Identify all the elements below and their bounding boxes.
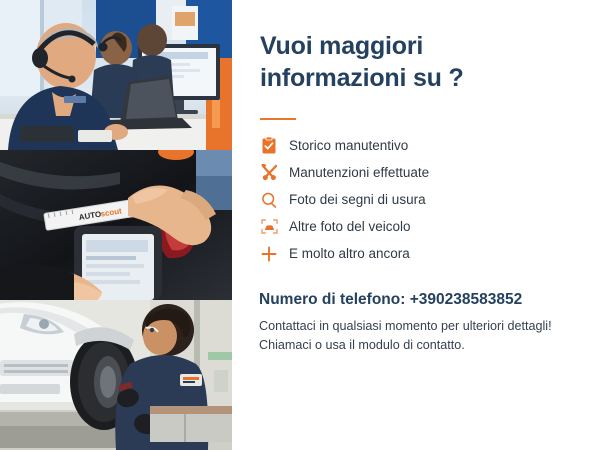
feature-label: Manutenzioni effettuate — [289, 165, 429, 180]
feature-label: Foto dei segni di usura — [289, 192, 426, 207]
feature-item-vehicle-photos: Altre foto del veicolo — [258, 213, 548, 240]
feature-label: Altre foto del veicolo — [289, 219, 411, 234]
feature-item-maintenance-done: Manutenzioni effettuate — [258, 159, 548, 186]
feature-label: E molto altro ancora — [289, 246, 410, 261]
feature-item-much-more: E molto altro ancora — [258, 240, 548, 267]
promotional-banner: AUTO scout — [0, 0, 600, 450]
photo-column: AUTO scout — [0, 0, 232, 450]
contact-note-line-1: Contattaci in qualsiasi momento per ulte… — [259, 317, 579, 336]
page-title: Vuoi maggiori informazioni su ? — [260, 30, 475, 94]
feature-item-wear-photos: Foto dei segni di usura — [258, 186, 548, 213]
phone-line: Numero di telefono: +390238583852 — [259, 291, 522, 309]
contact-note-line-2: Chiamaci o usa il modulo di contatto. — [259, 336, 579, 355]
phone-number[interactable]: +390238583852 — [410, 291, 523, 308]
plus-icon — [258, 245, 280, 263]
clipboard-check-icon — [258, 137, 280, 155]
call-center-agent-photo — [0, 0, 232, 150]
page-title-line-2: informazioni su ? — [260, 62, 475, 94]
title-divider — [260, 118, 296, 120]
car-scan-frame-icon — [258, 218, 280, 236]
tools-cross-icon — [258, 164, 280, 182]
feature-list: Storico manutentivo Manutenzioni effettu… — [258, 132, 548, 267]
vehicle-inspection-photo: AUTO scout — [0, 150, 232, 300]
mechanic-wheel-photo — [0, 300, 232, 450]
page-title-line-1: Vuoi maggiori — [260, 30, 475, 62]
feature-item-maintenance-history: Storico manutentivo — [258, 132, 548, 159]
phone-label: Numero di telefono: — [259, 291, 405, 308]
magnifier-icon — [258, 191, 280, 209]
contact-note: Contattaci in qualsiasi momento per ulte… — [259, 317, 579, 355]
content-panel: Vuoi maggiori informazioni su ? Saremo f… — [232, 0, 600, 450]
feature-label: Storico manutentivo — [289, 138, 408, 153]
